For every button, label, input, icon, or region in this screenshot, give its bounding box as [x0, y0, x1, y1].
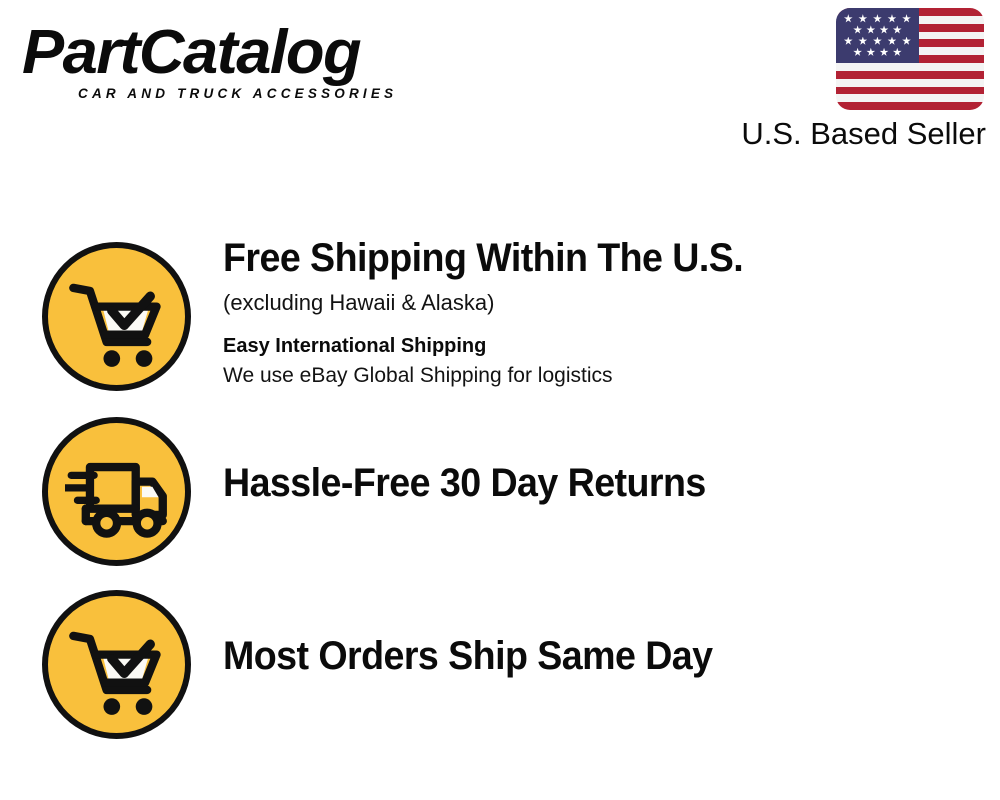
feature-subhead: Easy International Shipping [223, 332, 1000, 360]
brand-tagline: CAR AND TRUCK ACCESSORIES [78, 86, 492, 102]
shopping-cart-check-icon [42, 590, 191, 739]
feature-subnote: We use eBay Global Shipping for logistic… [223, 361, 1000, 390]
us-based-seller-block: U.S. Based Seller [722, 8, 992, 152]
feature-headline: Most Orders Ship Same Day [223, 632, 953, 680]
feature-text: Hassle-Free 30 Day Returns [191, 404, 1000, 507]
feature-subline: (excluding Hawaii & Alaska) [223, 288, 1000, 318]
shipping-info-banner: PartCatalog CAR AND TRUCK ACCESSORIES [0, 0, 1000, 800]
feature-row: Free Shipping Within The U.S. (excluding… [0, 228, 1000, 404]
feature-text: Most Orders Ship Same Day [191, 576, 1000, 680]
delivery-truck-icon [42, 417, 191, 566]
flag-canton [836, 8, 919, 63]
brand-wordmark: PartCatalog [22, 22, 501, 84]
feature-row: Hassle-Free 30 Day Returns [0, 404, 1000, 576]
feature-headline: Hassle-Free 30 Day Returns [223, 459, 953, 507]
us-flag-icon [836, 8, 984, 110]
shopping-cart-check-icon [42, 242, 191, 391]
feature-text: Free Shipping Within The U.S. (excluding… [191, 228, 1000, 390]
feature-list: Free Shipping Within The U.S. (excluding… [0, 228, 1000, 744]
us-based-seller-label: U.S. Based Seller [722, 116, 986, 152]
brand-logo: PartCatalog CAR AND TRUCK ACCESSORIES [22, 22, 492, 112]
feature-row: Most Orders Ship Same Day [0, 576, 1000, 744]
feature-headline: Free Shipping Within The U.S. [223, 234, 953, 282]
